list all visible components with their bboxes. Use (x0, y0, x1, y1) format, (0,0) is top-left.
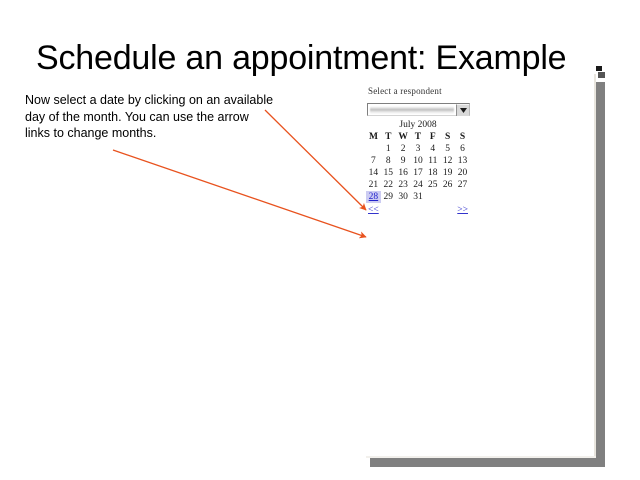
calendar-day-cell: 8 (381, 155, 396, 167)
calendar-table: M T W T F S S 1 2 3 4 5 6 (366, 131, 470, 203)
calendar-day-link-selected[interactable]: 28 (369, 192, 379, 202)
calendar-day-cell: 12 (440, 155, 455, 167)
calendar-day-cell: 13 (455, 155, 470, 167)
calendar-day-cell: 22 (381, 179, 396, 191)
calendar-day-cell: 19 (440, 167, 455, 179)
calendar-week-row: 7 8 9 10 11 12 13 (366, 155, 470, 167)
respondent-select[interactable] (367, 103, 470, 116)
calendar-day-cell: 7 (366, 155, 381, 167)
calendar-weekday-sat: S (440, 131, 455, 143)
calendar-weekday-tue: T (381, 131, 396, 143)
calendar-day-cell: 17 (411, 167, 426, 179)
calendar-day-cell: 30 (396, 191, 411, 203)
calendar-day-cell: 23 (396, 179, 411, 191)
instruction-text: Now select a date by clicking on an avai… (25, 92, 275, 142)
appointment-widget: Select a respondent July 2008 M T W T F … (366, 86, 478, 219)
page-title: Schedule an appointment: Example (36, 36, 616, 80)
calendar-day-cell: 6 (455, 143, 470, 155)
calendar-day-cell: 25 (425, 179, 440, 191)
chevron-down-icon[interactable] (456, 104, 469, 116)
respondent-label: Select a respondent (368, 86, 478, 97)
calendar-day-cell: 1 (381, 143, 396, 155)
calendar-day-cell (425, 191, 440, 203)
calendar-weekday-mon: M (366, 131, 381, 143)
calendar-day-cell: 2 (396, 143, 411, 155)
slide-shadow-right (596, 82, 605, 467)
calendar-day-cell (455, 191, 470, 203)
calendar-day-cell: 26 (440, 179, 455, 191)
respondent-selected-value (370, 106, 454, 114)
calendar-day-cell: 18 (425, 167, 440, 179)
calendar-nav: << >> (366, 205, 470, 219)
calendar-day-cell: 20 (455, 167, 470, 179)
calendar-week-row: 14 15 16 17 18 19 20 (366, 167, 470, 179)
slide-canvas: Schedule an appointment: Example Now sel… (0, 0, 640, 480)
calendar-week-row: 21 22 23 24 25 26 27 (366, 179, 470, 191)
calendar-month-title: July 2008 (366, 120, 470, 130)
calendar-next-month-link[interactable]: >> (457, 205, 468, 215)
calendar-week-row: 1 2 3 4 5 6 (366, 143, 470, 155)
calendar-weekday-fri: F (425, 131, 440, 143)
calendar-day-cell (366, 143, 381, 155)
calendar-week-row: 28 29 30 31 (366, 191, 470, 203)
calendar-day-cell: 27 (455, 179, 470, 191)
annotation-arrow-to-nav (113, 150, 366, 237)
calendar-prev-month-link[interactable]: << (368, 205, 379, 215)
calendar-day-cell: 16 (396, 167, 411, 179)
calendar-weekday-header-row: M T W T F S S (366, 131, 470, 143)
calendar-day-cell: 10 (411, 155, 426, 167)
calendar-day-cell: 14 (366, 167, 381, 179)
slide-shadow-bottom (370, 458, 605, 467)
annotation-arrow-to-day (265, 110, 366, 210)
calendar-day-cell: 5 (440, 143, 455, 155)
calendar-day-cell-selected[interactable]: 28 (366, 191, 381, 203)
calendar-day-cell: 21 (366, 179, 381, 191)
calendar-weekday-wed: W (396, 131, 411, 143)
calendar-day-cell: 15 (381, 167, 396, 179)
calendar-weekday-sun: S (455, 131, 470, 143)
calendar-day-cell: 31 (411, 191, 426, 203)
calendar-day-cell: 29 (381, 191, 396, 203)
calendar-day-cell: 11 (425, 155, 440, 167)
calendar-day-cell: 4 (425, 143, 440, 155)
calendar-day-cell: 24 (411, 179, 426, 191)
calendar-day-cell: 9 (396, 155, 411, 167)
calendar-day-cell: 3 (411, 143, 426, 155)
calendar-weekday-thu: T (411, 131, 426, 143)
calendar-day-cell (440, 191, 455, 203)
